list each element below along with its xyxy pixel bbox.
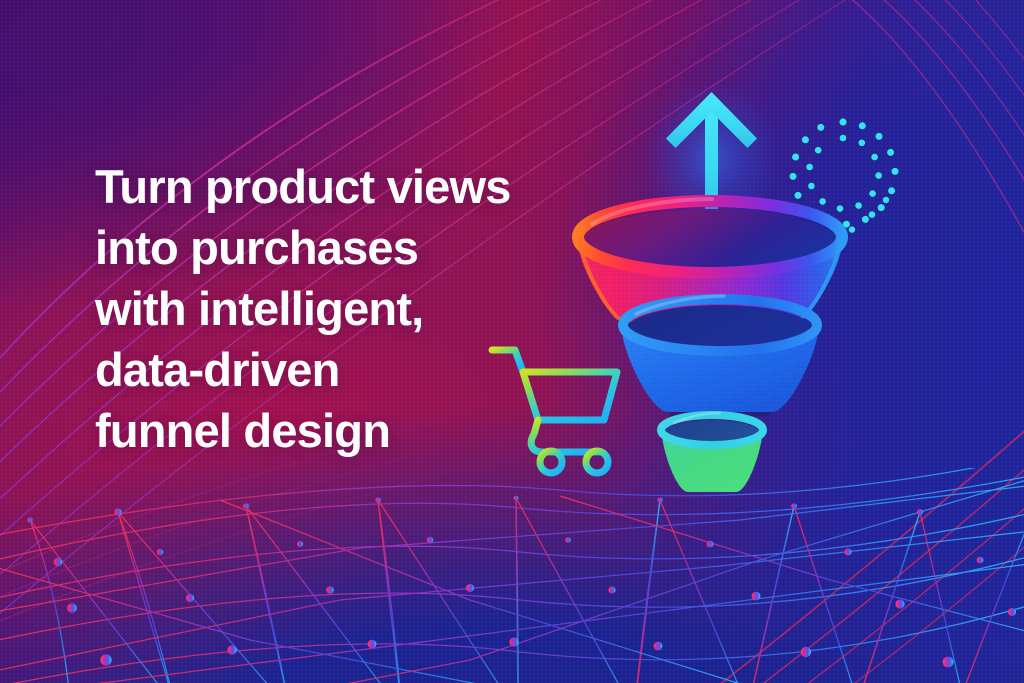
funnel-design-banner: Turn product views into purchases with i… (0, 0, 1024, 683)
funnel-tier-middle (622, 296, 818, 416)
funnel-tier-bottom (661, 413, 763, 492)
page-title: Turn product views into purchases with i… (95, 156, 595, 461)
